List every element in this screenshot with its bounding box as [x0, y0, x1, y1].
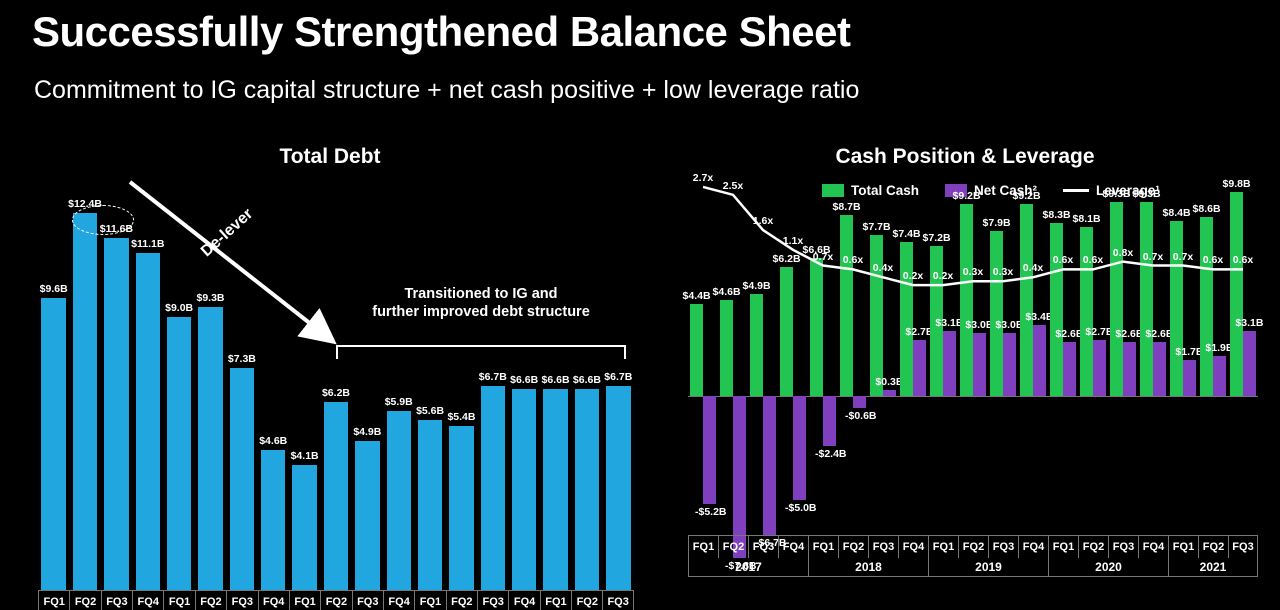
axis-year-label: 2020: [1048, 557, 1168, 577]
leverage-point-label: 1.6x: [745, 215, 781, 227]
debt-bar-label: $4.6B: [255, 435, 291, 447]
axis-quarter-label: FQ3: [352, 591, 383, 610]
debt-bar: [324, 402, 348, 590]
axis-quarter-label: FQ4: [778, 536, 808, 558]
year-axis: 20172018201920202021: [688, 557, 1258, 577]
axis-quarter-label: FQ3: [1108, 536, 1138, 558]
debt-bar: [261, 450, 285, 590]
debt-bar-label: $6.2B: [318, 387, 354, 399]
quarter-axis: FQ1FQ2FQ3FQ4FQ1FQ2FQ3FQ4FQ1FQ2FQ3FQ4FQ1F…: [38, 590, 634, 610]
axis-quarter-label: FQ1: [1168, 536, 1198, 558]
debt-bar: [481, 386, 505, 590]
debt-bar: [292, 465, 316, 590]
ig-transition-callout: Transitioned to IG and further improved …: [336, 285, 626, 321]
total-debt-chart: Total Debt $9.6B$12.4B$11.6B$11.1B$9.0B$…: [20, 145, 640, 605]
cash-leverage-chart: Cash Position & Leverage Total CashNet C…: [660, 145, 1270, 605]
axis-quarter-label: FQ4: [1138, 536, 1168, 558]
axis-quarter-label: FQ1: [414, 591, 445, 610]
debt-bar: [606, 386, 630, 590]
axis-quarter-label: FQ3: [1228, 536, 1258, 558]
axis-year-label: 2021: [1168, 557, 1258, 577]
axis-quarter-label: FQ4: [383, 591, 414, 610]
slide: Successfully Strengthened Balance Sheet …: [0, 0, 1280, 610]
axis-quarter-label: FQ2: [571, 591, 602, 610]
leverage-line: [688, 175, 1258, 575]
axis-quarter-label: FQ2: [1078, 536, 1108, 558]
debt-bar-label: $9.6B: [35, 283, 71, 295]
leverage-point-label: 0.6x: [1225, 254, 1261, 266]
axis-quarter-label: FQ2: [838, 536, 868, 558]
callout-line-2: further improved debt structure: [336, 303, 626, 321]
debt-bar: [449, 426, 473, 590]
axis-quarter-label: FQ1: [38, 591, 69, 610]
axis-quarter-label: FQ3: [868, 536, 898, 558]
debt-bar-label: $5.4B: [443, 411, 479, 423]
axis-quarter-label: FQ2: [320, 591, 351, 610]
debt-bar: [230, 368, 254, 590]
ig-transition-bracket: [336, 345, 626, 359]
axis-year-label: 2019: [928, 557, 1048, 577]
debt-bar: [73, 213, 97, 590]
axis-year-label: 2018: [808, 557, 928, 577]
leverage-point-label: 1.1x: [775, 235, 811, 247]
debt-bar: [41, 298, 65, 590]
de-lever-arrow: [115, 167, 345, 357]
axis-quarter-label: FQ1: [163, 591, 194, 610]
axis-quarter-label: FQ2: [195, 591, 226, 610]
right-chart-title: Cash Position & Leverage: [660, 145, 1270, 169]
axis-quarter-label: FQ3: [988, 536, 1018, 558]
debt-bar: [167, 317, 191, 590]
axis-quarter-label: FQ3: [602, 591, 633, 610]
axis-quarter-label: FQ1: [540, 591, 571, 610]
axis-quarter-label: FQ4: [508, 591, 539, 610]
axis-quarter-label: FQ3: [477, 591, 508, 610]
axis-quarter-label: FQ1: [688, 536, 718, 558]
axis-quarter-label: FQ1: [289, 591, 320, 610]
leverage-point-label: 2.5x: [715, 180, 751, 192]
quarter-axis: FQ1FQ2FQ3FQ4FQ1FQ2FQ3FQ4FQ1FQ2FQ3FQ4FQ1F…: [688, 535, 1258, 558]
debt-bar: [387, 411, 411, 590]
debt-bar-label: $4.9B: [349, 426, 385, 438]
axis-quarter-label: FQ3: [226, 591, 257, 610]
axis-quarter-label: FQ1: [928, 536, 958, 558]
axis-quarter-label: FQ1: [808, 536, 838, 558]
axis-quarter-label: FQ4: [898, 536, 928, 558]
right-plot-area: $4.4B-$5.2B$4.6B-$7.8B$4.9B-$6.7B$6.2B-$…: [688, 175, 1258, 575]
axis-quarter-label: FQ4: [1018, 536, 1048, 558]
axis-quarter-label: FQ2: [69, 591, 100, 610]
debt-bar-label: $4.1B: [286, 450, 322, 462]
page-title: Successfully Strengthened Balance Sheet: [32, 8, 850, 56]
axis-quarter-label: FQ3: [101, 591, 132, 610]
axis-year-label: 2017: [688, 557, 808, 577]
page-subtitle: Commitment to IG capital structure + net…: [34, 76, 859, 105]
debt-bar: [512, 389, 536, 590]
debt-bar-label: $6.7B: [600, 371, 636, 383]
debt-bar: [355, 441, 379, 590]
left-chart-title: Total Debt: [20, 145, 640, 169]
debt-bar: [418, 420, 442, 590]
debt-bar: [543, 389, 567, 590]
axis-quarter-label: FQ3: [748, 536, 778, 558]
axis-quarter-label: FQ2: [718, 536, 748, 558]
axis-quarter-label: FQ4: [132, 591, 163, 610]
axis-quarter-label: FQ1: [1048, 536, 1078, 558]
axis-quarter-label: FQ2: [1198, 536, 1228, 558]
axis-quarter-label: FQ2: [958, 536, 988, 558]
axis-quarter-label: FQ2: [446, 591, 477, 610]
axis-quarter-label: FQ4: [258, 591, 289, 610]
callout-line-1: Transitioned to IG and: [336, 285, 626, 303]
debt-bar: [575, 389, 599, 590]
